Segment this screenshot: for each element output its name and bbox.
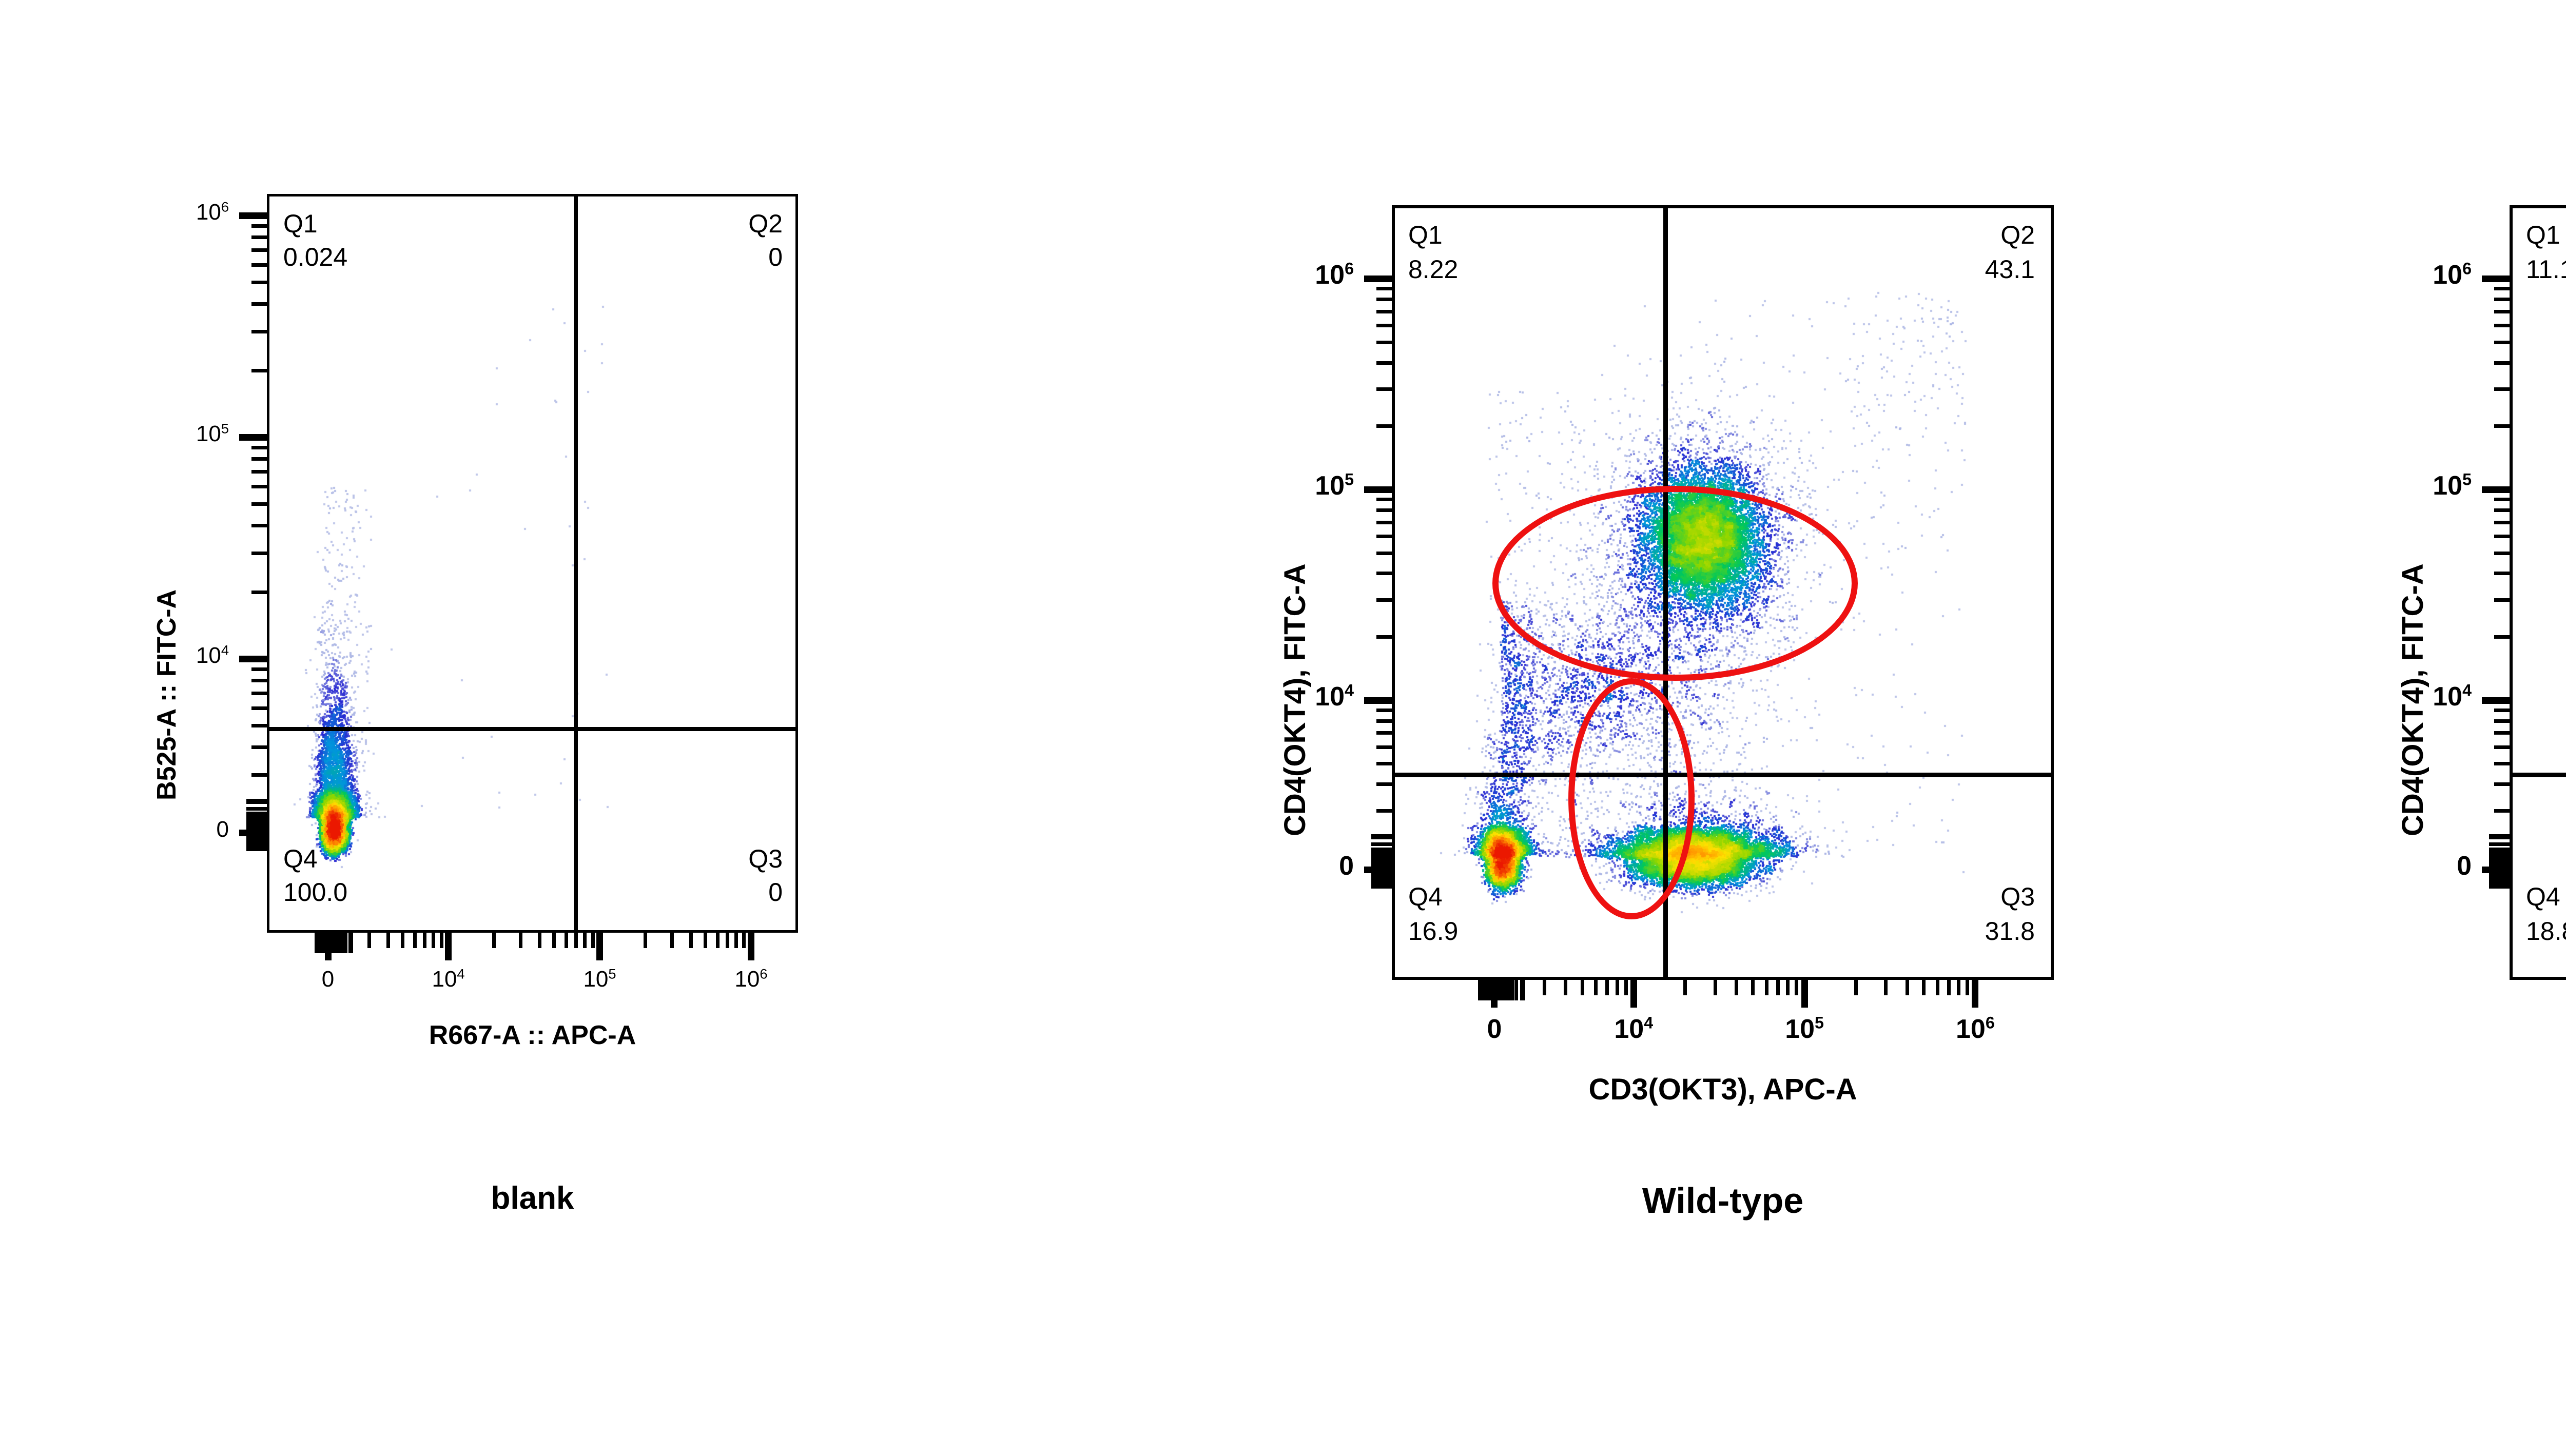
y-axis-tick — [2494, 287, 2510, 290]
y-axis-tick — [2494, 361, 2510, 365]
y-axis-tick — [2494, 498, 2510, 501]
quadrant-q3-name: Q3 — [1963, 883, 2035, 911]
x-axis-tick — [565, 933, 568, 948]
y-axis-tick — [2494, 310, 2510, 313]
y-axis-tick — [2494, 598, 2510, 602]
y-axis-tick — [2494, 782, 2510, 786]
plot-frame — [267, 194, 798, 933]
x-axis-tick — [349, 933, 353, 953]
y-axis-tick — [2494, 731, 2510, 735]
x-axis-tick — [440, 933, 443, 948]
quadrant-q1-name: Q1 — [283, 210, 347, 238]
y-axis-tick-label: 0 — [1236, 851, 1354, 881]
x-axis-tick — [591, 933, 595, 948]
y-axis-tick — [251, 281, 267, 284]
x-axis-tick — [423, 933, 426, 948]
x-axis-tick — [1765, 980, 1768, 995]
y-axis-tick — [251, 248, 267, 252]
x-axis-tick — [1564, 980, 1567, 995]
x-axis-tick — [1854, 980, 1858, 995]
x-axis-tick — [1514, 980, 1518, 1000]
y-axis-tick — [251, 502, 267, 506]
y-axis-tick — [251, 470, 267, 474]
y-axis-tick — [251, 706, 267, 710]
x-axis-tick — [1786, 980, 1790, 995]
quadrant-label-q1: Q1 0.024 — [283, 210, 347, 271]
y-axis-tick — [251, 724, 267, 727]
quadrant-q1-value: 11.1 — [2526, 256, 2566, 283]
y-axis-tick-label: 104 — [1236, 681, 1354, 712]
x-axis-tick — [1936, 980, 1939, 995]
y-axis-tick — [2494, 552, 2510, 555]
quadrant-label-q4: Q4 18.8 — [2526, 883, 2566, 945]
y-axis-tick — [2494, 709, 2510, 712]
y-axis-tick — [2489, 842, 2510, 846]
y-axis-tick — [2494, 762, 2510, 765]
y-axis-tick — [2494, 521, 2510, 524]
x-axis-tick — [367, 933, 371, 948]
quadrant-q3-name: Q3 — [716, 845, 783, 873]
y-axis-tick — [1376, 782, 1392, 786]
quadrant-q2-name: Q2 — [1963, 222, 2035, 249]
y-axis-tick — [251, 524, 267, 527]
x-axis-tick — [1543, 980, 1546, 995]
x-axis-tick — [1616, 980, 1619, 995]
x-axis-tick — [1605, 980, 1609, 995]
y-axis-tick — [1376, 341, 1392, 344]
y-axis-tick — [1371, 851, 1392, 855]
quadrant-label-q2: Q2 0 — [716, 210, 783, 271]
y-axis-tick — [1376, 498, 1392, 501]
y-axis-tick — [1376, 287, 1392, 290]
panel-caption: Wild-type — [1392, 1180, 2054, 1221]
y-axis-tick-label: 106 — [2354, 260, 2472, 290]
y-axis-tick — [1376, 535, 1392, 538]
quadrant-label-q4: Q4 16.9 — [1408, 883, 1458, 945]
y-axis-tick — [1376, 598, 1392, 602]
quadrant-label-q1: Q1 11.1 — [2526, 222, 2566, 283]
y-axis-tick — [1376, 719, 1392, 723]
y-axis-tick — [251, 224, 267, 228]
quadrant-label-q3: Q3 31.8 — [1963, 883, 2035, 945]
quadrant-q4-name: Q4 — [2526, 883, 2566, 911]
quadrant-label-q3: Q3 0 — [716, 845, 783, 906]
y-axis-tick — [2494, 719, 2510, 723]
x-axis-tick — [1947, 980, 1951, 995]
x-axis-tick — [1957, 980, 1960, 995]
x-axis-tick-label: 0 — [1448, 1014, 1541, 1045]
y-axis-tick — [239, 434, 267, 441]
gate-cd3-low — [1568, 678, 1695, 919]
quadrant-q4-name: Q4 — [283, 845, 347, 873]
y-axis-tick — [251, 773, 267, 777]
quadrant-label-q4: Q4 100.0 — [283, 845, 347, 906]
y-axis-tick — [1376, 709, 1392, 712]
y-axis-tick-label: 106 — [1236, 260, 1354, 290]
quadrant-q4-value: 18.8 — [2526, 918, 2566, 945]
quadrant-q2-value: 0 — [716, 244, 783, 271]
plot-frame — [2510, 205, 2566, 980]
x-axis-tick — [1522, 980, 1525, 1000]
y-axis-tick — [1376, 387, 1392, 391]
x-axis-tick — [1922, 980, 1926, 995]
x-axis-tick-label: 104 — [1587, 1014, 1680, 1045]
y-axis-tick — [251, 692, 267, 695]
scatter-canvas — [269, 196, 795, 930]
y-axis-tick — [1376, 298, 1392, 301]
quadrant-q1-value: 0.024 — [283, 244, 347, 271]
quadrant-q4-value: 16.9 — [1408, 918, 1458, 945]
y-axis-tick — [2494, 324, 2510, 327]
y-axis-tick — [251, 679, 267, 682]
x-axis-tick — [1630, 980, 1637, 1008]
x-axis-tick — [748, 933, 754, 960]
y-axis-tick — [2494, 745, 2510, 749]
y-axis-tick — [2482, 276, 2510, 282]
y-axis-tick — [1364, 276, 1392, 282]
x-axis-tick — [413, 933, 417, 948]
quadrant-q4-name: Q4 — [1408, 883, 1458, 911]
panel-caption: Wild-type + Fc block — [2510, 1180, 2566, 1221]
y-axis-tick — [251, 446, 267, 449]
x-axis-tick — [689, 933, 693, 948]
x-axis-tick — [742, 933, 746, 948]
y-axis-tick — [251, 457, 267, 461]
y-axis-tick — [2494, 635, 2510, 639]
x-axis-tick — [596, 933, 603, 960]
y-axis-tick — [251, 369, 267, 372]
x-axis-tick — [344, 933, 347, 953]
x-axis-tick — [538, 933, 541, 948]
x-axis-tick — [1594, 980, 1598, 995]
x-axis-tick — [734, 933, 738, 948]
y-axis-tick — [251, 263, 267, 267]
x-axis-tick-label: 105 — [1758, 1014, 1851, 1045]
y-axis-tick — [2494, 508, 2510, 512]
quadrant-q1-name: Q1 — [2526, 222, 2566, 249]
y-axis-tick — [251, 302, 267, 306]
x-axis-tick — [1507, 980, 1511, 1000]
x-axis-tick — [1884, 980, 1888, 995]
y-axis-tick — [1371, 842, 1392, 846]
quadrant-label-q1: Q1 8.22 — [1408, 222, 1458, 283]
y-axis-tick — [2494, 298, 2510, 301]
y-axis-tick — [2494, 809, 2510, 813]
x-axis-tick — [552, 933, 556, 948]
y-axis-tick — [251, 330, 267, 333]
y-axis-tick — [246, 815, 267, 818]
y-axis-tick — [2494, 572, 2510, 575]
y-axis-tick-label: 0 — [2354, 851, 2472, 881]
y-axis-tick-label: 104 — [111, 643, 229, 668]
y-axis-tick — [1371, 834, 1392, 838]
y-axis-tick — [1376, 508, 1392, 512]
x-axis-tick — [1714, 980, 1717, 995]
y-axis-tick — [251, 485, 267, 488]
x-axis-tick — [1751, 980, 1755, 995]
quadrant-horizontal-divider — [1392, 773, 2054, 777]
x-axis-tick — [644, 933, 647, 948]
x-axis-tick-label: 106 — [705, 967, 797, 992]
x-axis-title: CD3(OKT3), APC-A — [2510, 1072, 2566, 1107]
x-axis-tick — [338, 933, 341, 953]
x-axis-tick — [716, 933, 720, 948]
y-axis-tick — [1376, 310, 1392, 313]
y-axis-tick — [1376, 745, 1392, 749]
quadrant-horizontal-divider — [267, 727, 798, 731]
y-axis-tick — [1376, 809, 1392, 813]
y-axis-tick — [2482, 697, 2510, 704]
quadrant-q4-value: 100.0 — [283, 879, 347, 906]
panel-wild-type-fc-block: Q1 11.1 Q2 36.6 Q3 33.5 Q4 18.8 CD3(OKT3… — [2284, 0, 2566, 1456]
flow-cytometry-figure: Q1 0.024 Q2 0 Q3 0 Q4 100.0 R667-A :: AP… — [0, 0, 2566, 1456]
x-axis-tick — [1624, 980, 1628, 995]
y-axis-tick — [1376, 552, 1392, 555]
x-axis-tick — [1972, 980, 1978, 1008]
y-axis-tick — [2494, 535, 2510, 538]
y-axis-tick — [1376, 762, 1392, 765]
x-axis-tick — [386, 933, 390, 948]
y-axis-tick — [2489, 834, 2510, 838]
y-axis-tick — [1376, 731, 1392, 735]
y-axis-tick — [2494, 341, 2510, 344]
y-axis-tick — [1376, 572, 1392, 575]
x-axis-tick — [401, 933, 404, 948]
x-axis-tick — [519, 933, 522, 948]
x-axis-tick-label: 106 — [1929, 1014, 2021, 1045]
x-axis-tick — [670, 933, 674, 948]
x-axis-tick — [432, 933, 435, 948]
y-axis-tick — [251, 552, 267, 555]
y-axis-tick — [251, 235, 267, 239]
x-axis-tick — [1795, 980, 1798, 995]
y-axis-tick — [246, 807, 267, 811]
quadrant-q2-name: Q2 — [716, 210, 783, 238]
y-axis-tick — [2494, 424, 2510, 428]
panel-caption: blank — [267, 1180, 798, 1216]
x-axis-tick — [704, 933, 707, 948]
y-axis-tick — [251, 667, 267, 671]
y-axis-tick — [2489, 854, 2510, 858]
gate-cd4-intermediate — [1492, 486, 1858, 681]
x-axis-tick — [1776, 980, 1780, 995]
x-axis-tick — [1801, 980, 1808, 1008]
y-axis-tick-label: 105 — [2354, 470, 2472, 501]
x-axis-tick — [574, 933, 578, 948]
x-axis-title: R667-A :: APC-A — [267, 1020, 798, 1051]
y-axis-tick — [1376, 424, 1392, 428]
x-axis-tick-label: 104 — [402, 967, 495, 992]
y-axis-tick — [2489, 851, 2510, 855]
quadrant-horizontal-divider — [2510, 773, 2566, 777]
y-axis-tick — [2482, 486, 2510, 493]
y-axis-tick-label: 105 — [1236, 470, 1354, 501]
y-axis-tick — [251, 745, 267, 749]
y-axis-tick — [1364, 697, 1392, 704]
x-axis-tick — [1735, 980, 1738, 995]
y-axis-tick — [1376, 635, 1392, 639]
quadrant-q3-value: 0 — [716, 879, 783, 906]
x-axis-tick — [1966, 980, 1969, 995]
y-axis-tick — [1376, 521, 1392, 524]
panel-wild-type: Q1 8.22 Q2 43.1 Q3 31.8 Q4 16.9 CD3(OKT3… — [1139, 0, 2284, 1456]
x-axis-tick — [1683, 980, 1687, 995]
quadrant-vertical-divider — [574, 194, 578, 933]
y-axis-tick-label: 106 — [111, 200, 229, 225]
y-axis-title: B525-A :: FITC-A — [151, 589, 182, 800]
x-axis-tick — [1906, 980, 1909, 995]
quadrant-q1-name: Q1 — [1408, 222, 1458, 249]
y-axis-tick — [1376, 361, 1392, 365]
x-axis-tick-label: 0 — [282, 967, 374, 992]
y-axis-tick — [1364, 486, 1392, 493]
quadrant-label-q2: Q2 43.1 — [1963, 222, 2035, 283]
y-axis-tick — [251, 591, 267, 594]
x-axis-tick — [492, 933, 496, 948]
x-axis-title: CD3(OKT3), APC-A — [1392, 1072, 2054, 1107]
y-axis-tick-label: 105 — [111, 421, 229, 447]
x-axis-tick — [726, 933, 729, 948]
x-axis-tick-label: 105 — [554, 967, 646, 992]
quadrant-q1-value: 8.22 — [1408, 256, 1458, 283]
y-axis-tick-label: 104 — [2354, 681, 2472, 712]
x-axis-tick — [1581, 980, 1584, 995]
scatter-canvas — [2513, 208, 2566, 977]
y-axis-tick — [1376, 324, 1392, 327]
x-axis-tick — [583, 933, 587, 948]
x-axis-tick — [445, 933, 452, 960]
y-axis-tick — [1371, 854, 1392, 858]
quadrant-q2-value: 43.1 — [1963, 256, 2035, 283]
quadrant-q3-value: 31.8 — [1963, 918, 2035, 945]
y-axis-tick — [2494, 387, 2510, 391]
y-axis-tick — [239, 212, 267, 219]
y-axis-tick — [246, 799, 267, 802]
y-axis-tick-label: 0 — [111, 817, 229, 842]
y-axis-tick — [239, 656, 267, 662]
